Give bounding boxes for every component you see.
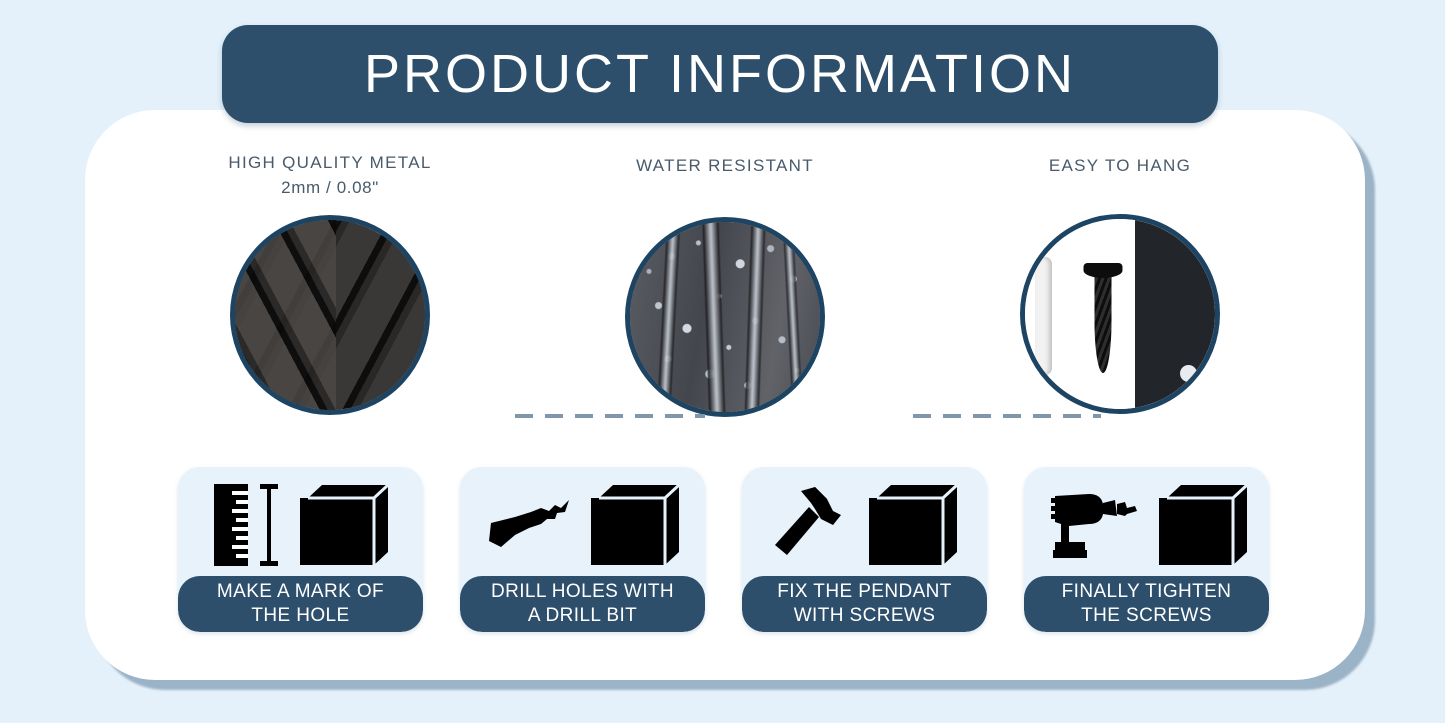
feature-label: WATER RESISTANT [560, 150, 890, 178]
ruler-icon [212, 482, 282, 568]
step-icon-group [1024, 467, 1269, 582]
page-title-banner: PRODUCT INFORMATION [222, 25, 1218, 123]
wall-anchor-icon [1035, 257, 1052, 375]
drill-bit-icon [485, 495, 573, 555]
feature-row: HIGH QUALITY METAL 2mm / 0.08" WATER RES… [85, 150, 1365, 440]
step-card-make-a-mark[interactable]: MAKE A MARK OF THE HOLE [178, 467, 423, 632]
panel-box-icon [863, 482, 959, 568]
panel-box-icon [1153, 482, 1249, 568]
feature-water-resistant: WATER RESISTANT [560, 150, 890, 417]
step-icon-group [742, 467, 987, 582]
step-caption: FINALLY TIGHTEN THE SCREWS [1024, 576, 1269, 632]
feature-image-water-droplets [625, 217, 825, 417]
feature-image-screw-and-panel [1020, 214, 1220, 414]
feature-image-stacked-metal-sheets [230, 215, 430, 415]
step-card-drill-holes[interactable]: DRILL HOLES WITH A DRILL BIT [460, 467, 705, 632]
measure-bar-icon [260, 484, 278, 566]
power-drill-icon [1045, 486, 1141, 564]
step-card-fix-pendant[interactable]: FIX THE PENDANT WITH SCREWS [742, 467, 987, 632]
mounting-hole [1180, 365, 1197, 382]
feature-label: HIGH QUALITY METAL [165, 150, 495, 175]
hammer-icon [771, 485, 851, 565]
stacked-metal-sheets-photo [235, 220, 425, 410]
screw-shaft [1094, 270, 1111, 373]
panel-box-icon [585, 482, 681, 568]
step-caption: FIX THE PENDANT WITH SCREWS [742, 576, 987, 632]
water-droplets-on-metal-photo [630, 222, 820, 412]
installation-steps-row: MAKE A MARK OF THE HOLE DRILL HOLES WITH… [178, 467, 1288, 632]
step-icon-group [460, 467, 705, 582]
step-icon-group [178, 467, 423, 582]
feature-label: EASY TO HANG [955, 150, 1285, 178]
step-card-tighten-screws[interactable]: FINALLY TIGHTEN THE SCREWS [1024, 467, 1269, 632]
screw-head [1083, 263, 1122, 278]
feature-easy-to-hang: EASY TO HANG [955, 150, 1285, 414]
feature-sublabel: 2mm / 0.08" [165, 175, 495, 200]
screw-and-mounting-panel-photo [1025, 219, 1215, 409]
step-caption: MAKE A MARK OF THE HOLE [178, 576, 423, 632]
step-caption: DRILL HOLES WITH A DRILL BIT [460, 576, 705, 632]
connector-dashed-line [515, 414, 705, 418]
page-title: PRODUCT INFORMATION [364, 43, 1076, 105]
mounting-panel [1135, 219, 1215, 409]
connector-dashed-line [913, 414, 1101, 418]
feature-high-quality-metal: HIGH QUALITY METAL 2mm / 0.08" [165, 150, 495, 415]
panel-box-icon [294, 482, 390, 568]
